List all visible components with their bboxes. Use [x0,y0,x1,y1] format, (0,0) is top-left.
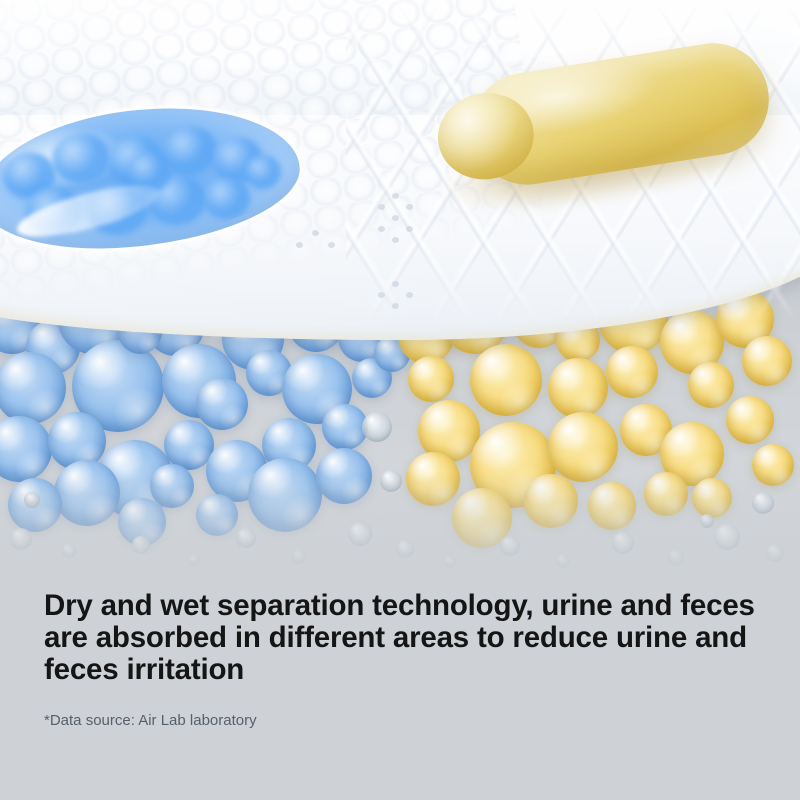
gel-bead-gold [726,396,774,444]
caption-block: Dry and wet separation technology, urine… [44,590,756,731]
water-droplet [362,412,392,442]
water-droplet [444,556,456,568]
gel-bead-gold [644,472,688,516]
perforation-dot [392,303,399,309]
perforation-dot [392,215,399,221]
water-droplet [766,544,784,562]
gel-bead-blue [0,416,52,482]
water-droplet [292,550,306,564]
gel-bead-gold [524,474,578,528]
gel-bead-gold [548,358,608,418]
water-droplet [500,536,520,556]
water-droplet [556,554,570,568]
gel-bead-gold [692,478,732,518]
gel-bead-gold [588,482,636,530]
water-droplet [348,522,372,546]
perforation-dot [312,230,319,236]
perforation-dot [406,204,413,210]
perforation-dot [378,292,385,298]
infographic-canvas: Dry and wet separation technology, urine… [0,0,800,800]
top-sheet-body [0,0,800,340]
water-droplet [752,492,774,514]
perforation-dot [392,281,399,287]
gel-bead-gold [406,452,460,506]
gel-bead-blue [0,352,66,424]
gel-bead-blue [248,458,322,532]
perforation-dot [392,193,399,199]
water-droplet [188,554,200,566]
gel-bead-gold [408,356,454,402]
water-droplet [612,532,634,554]
gel-bead-blue [54,460,120,526]
water-droplet [396,540,414,558]
water-droplet [132,536,150,554]
perforation-dot [406,226,413,232]
diaper-top-sheet [0,0,800,360]
perforation-dot [296,242,303,248]
water-droplet [668,550,684,566]
gel-bead-blue [150,464,194,508]
water-droplet [10,528,32,550]
headline-text: Dry and wet separation technology, urine… [44,590,756,686]
gel-bead-gold [688,362,734,408]
water-droplet [62,544,76,558]
perforation-dot [406,292,413,298]
gel-bead-gold [752,444,794,486]
perforation-dot [392,237,399,243]
perforation-dot [378,204,385,210]
perforation-dot [378,226,385,232]
gel-bead-blue [196,494,238,536]
water-droplet [24,492,40,508]
water-droplet [236,528,256,548]
gel-bead-gold [548,412,618,482]
water-droplet [714,524,740,550]
gel-bead-blue [316,448,372,504]
water-droplet [700,514,714,528]
perforation-dot [328,242,335,248]
gel-bead-blue [196,378,248,430]
data-source-note: *Data source: Air Lab laboratory [44,686,756,731]
water-droplet [380,470,402,492]
